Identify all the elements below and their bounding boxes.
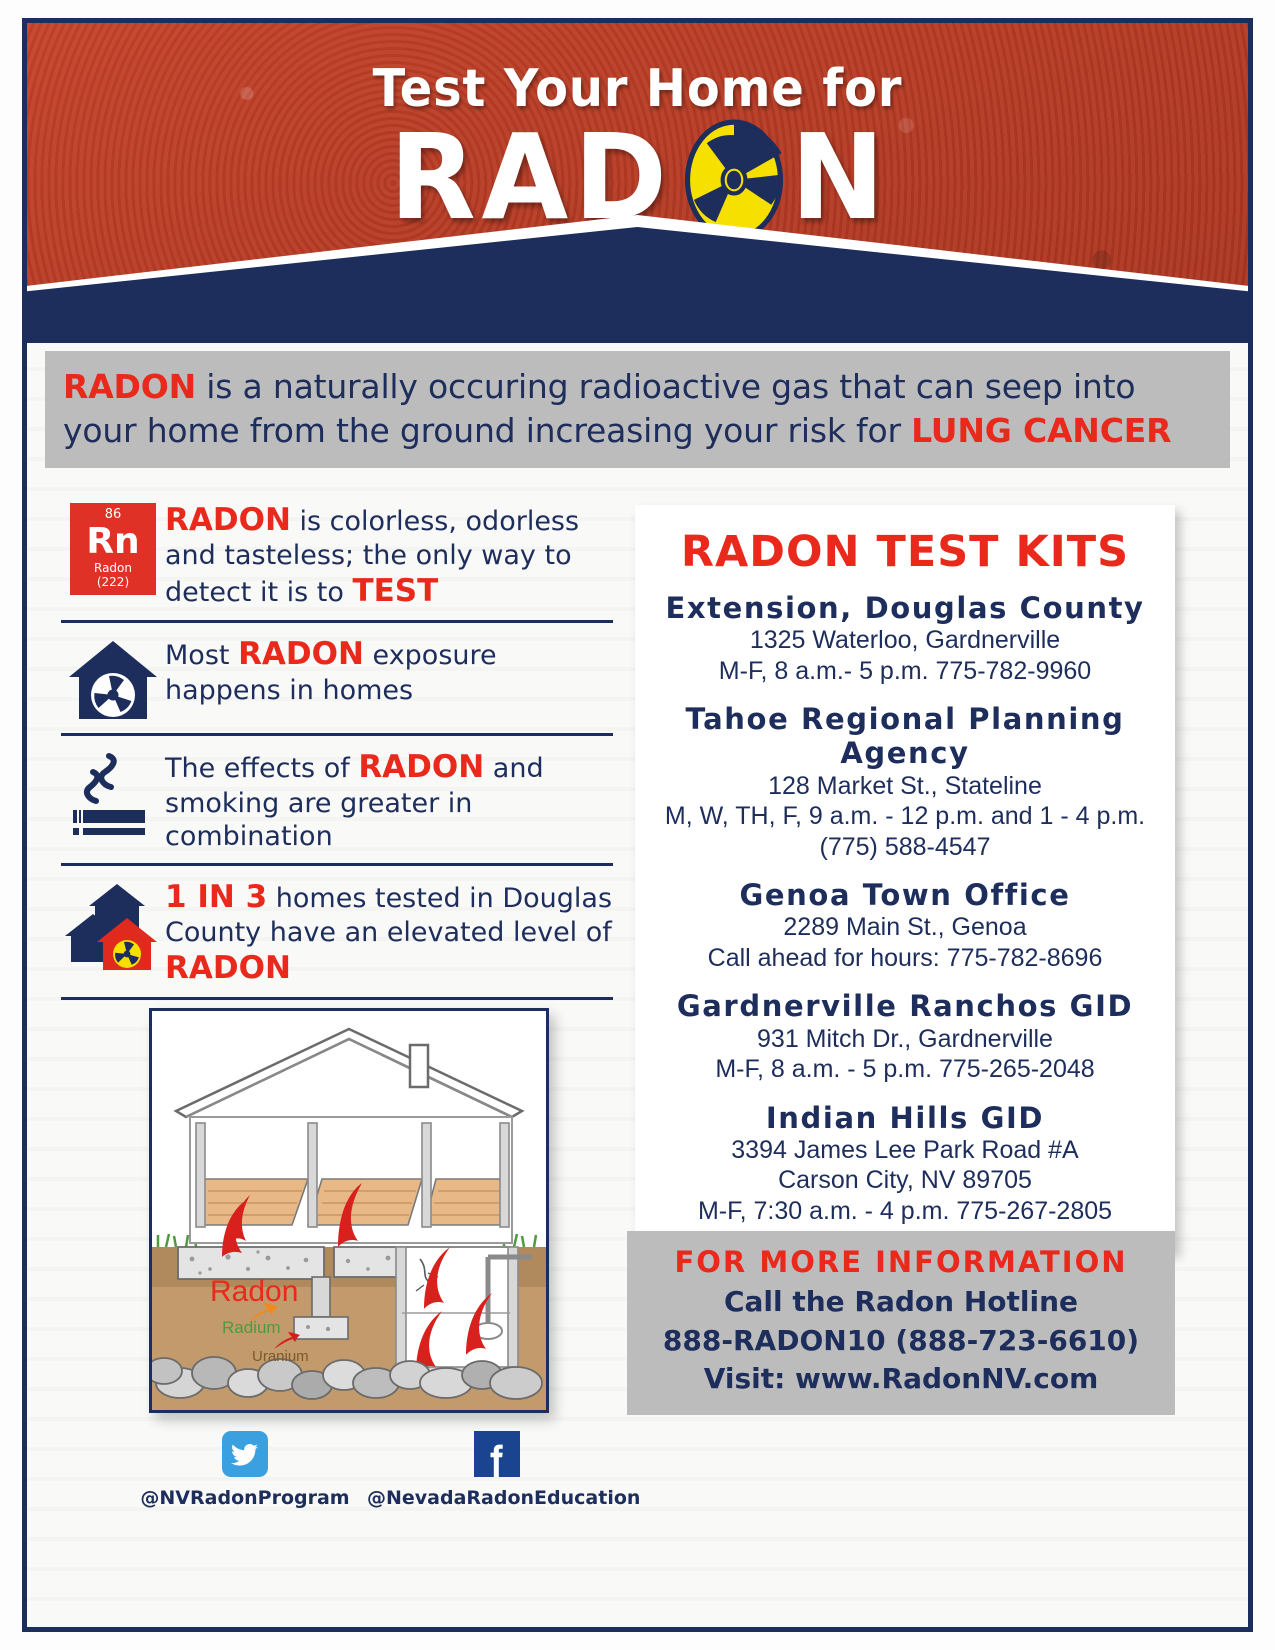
header-word-right: N [791,108,891,246]
kit-location-line: 128 Market St., Stateline [649,771,1161,802]
three-houses-icon [61,876,165,972]
radon-test-kits-panel: RADON TEST KITS Extension, Douglas Count… [635,505,1175,1252]
fact-part-hl: RADON [238,636,364,672]
periodic-element-rn-icon: 86 Rn Radon (222) [61,499,165,595]
fact-text: RADON is colorless, odorless and tastele… [165,499,613,610]
fact-item: Most RADON exposure happens in homes [61,620,613,733]
element-number: 86 [70,507,156,522]
house-radiation-icon [61,633,165,723]
kit-location: Tahoe Regional Planning Agency 128 Marke… [649,702,1161,862]
label-uranium: Uranium [252,1348,309,1365]
radon-entry-house-cross-section: Radon Radium Uranium [149,1008,549,1413]
kit-location-name: Tahoe Regional Planning Agency [649,702,1161,770]
tagline-line2: your home from the ground increasing you… [63,409,1212,453]
kit-location-line: Call ahead for hours: 775-782-8696 [649,943,1161,974]
twitter-social[interactable]: @NVRadonProgram [135,1431,355,1509]
kit-location-line: M-F, 7:30 a.m. - 4 p.m. 775-267-2805 [649,1196,1161,1227]
kit-location-name: Indian Hills GID [649,1101,1161,1135]
facebook-social[interactable]: @NevadaRadonEducation [367,1431,627,1509]
kit-location-name: Gardnerville Ranchos GID [649,989,1161,1023]
fact-part-hl: RADON [165,502,291,538]
kit-location-line: 931 Mitch Dr., Gardnerville [649,1024,1161,1055]
fact-item: 1 IN 3 homes tested in Douglas County ha… [61,863,613,1000]
kit-location-line: M-F, 8 a.m.- 5 p.m. 775-782-9960 [649,656,1161,687]
element-name: Radon [70,561,156,575]
kit-location-line: 2289 Main St., Genoa [649,912,1161,943]
tagline-line1: RADON is a naturally occuring radioactiv… [63,365,1212,409]
facts-list: 86 Rn Radon (222) RADON is colorless, od… [61,489,613,1000]
tagline-radon-word: RADON [63,367,196,406]
twitter-bird-icon[interactable] [222,1431,268,1477]
more-info-website[interactable]: Visit: www.RadonNV.com [637,1360,1165,1399]
kit-location-line: M, W, TH, F, 9 a.m. - 12 p.m. and 1 - 4 … [649,801,1161,832]
fact-text: 1 IN 3 homes tested in Douglas County ha… [165,876,613,987]
label-radon: Radon [210,1275,298,1308]
more-information-panel: FOR MORE INFORMATION Call the Radon Hotl… [627,1231,1175,1415]
poster-frame: Test Your Home for RAD [22,18,1253,1632]
element-mass: (222) [70,575,156,589]
kit-location-line: 3394 James Lee Park Road #A [649,1135,1161,1166]
kit-location-line: M-F, 8 a.m. - 5 p.m. 775-265-2048 [649,1054,1161,1085]
fact-part-hl: 1 IN 3 [165,879,267,915]
tagline-lung-cancer: LUNG CANCER [911,411,1171,450]
fact-part-hl: RADON [165,950,291,986]
facebook-handle: @NevadaRadonEducation [367,1487,627,1509]
fact-part-hl: RADON [358,749,484,785]
kit-location-line: Carson City, NV 89705 [649,1165,1161,1196]
facebook-f-icon[interactable] [474,1431,520,1477]
tagline-line2-start: your home from the ground increasing you… [63,411,911,450]
fact-part-hl: TEST [352,573,438,609]
kit-location-name: Extension, Douglas County [649,591,1161,625]
tagline-mid: is a naturally occuring radioactive gas … [196,367,1135,406]
fact-item: 86 Rn Radon (222) RADON is colorless, od… [61,489,613,620]
kit-location: Genoa Town Office 2289 Main St., Genoa C… [649,878,1161,973]
kit-location-line: 1325 Waterloo, Gardnerville [649,625,1161,656]
kit-location-name: Genoa Town Office [649,878,1161,912]
cigarette-smoke-icon [61,746,165,838]
tagline-banner: RADON is a naturally occuring radioactiv… [45,351,1230,468]
fact-item: The effects of RADON and smoking are gre… [61,733,613,863]
fact-part-normal: The effects of [165,753,358,784]
kit-location: Gardnerville Ranchos GID 931 Mitch Dr., … [649,989,1161,1084]
twitter-handle: @NVRadonProgram [135,1487,355,1509]
more-info-title: FOR MORE INFORMATION [637,1245,1165,1279]
more-info-hotline-label: Call the Radon Hotline [637,1283,1165,1322]
element-symbol: Rn [70,521,156,562]
kits-title: RADON TEST KITS [649,527,1161,577]
fact-text: Most RADON exposure happens in homes [165,633,613,706]
poster-footer: @NVRadonProgram @NevadaRadonEducation Ne… [27,1423,1248,1623]
radon-poster: Test Your Home for RAD [0,0,1275,1650]
label-radium: Radium [222,1318,281,1337]
poster-header: Test Your Home for RAD [27,23,1248,343]
fact-text: The effects of RADON and smoking are gre… [165,746,613,853]
kit-location: Extension, Douglas County 1325 Waterloo,… [649,591,1161,686]
fact-part-normal: Most [165,640,238,671]
more-info-hotline-number[interactable]: 888-RADON10 (888-723-6610) [637,1322,1165,1361]
kit-location: Indian Hills GID 3394 James Lee Park Roa… [649,1101,1161,1227]
kit-location-line: (775) 588-4547 [649,832,1161,863]
